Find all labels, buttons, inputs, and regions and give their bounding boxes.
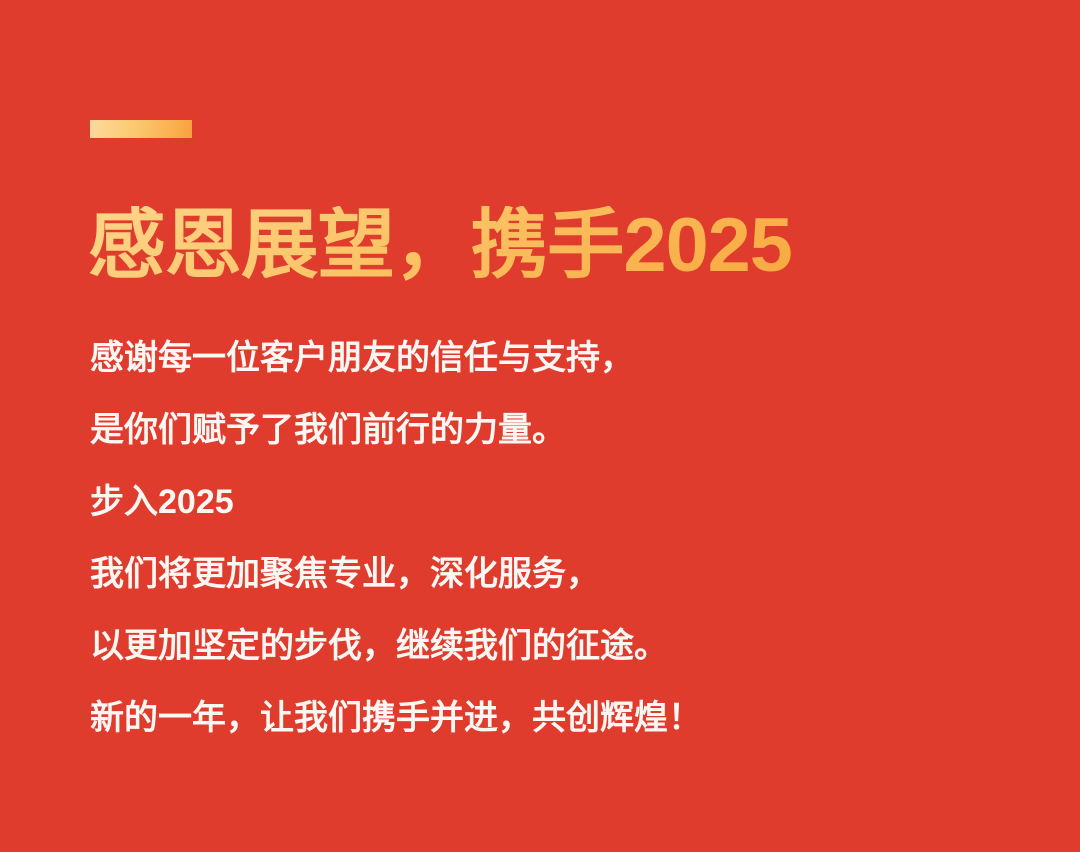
accent-bar [90, 120, 192, 138]
body-line: 我们将更加聚焦专业，深化服务， [90, 538, 990, 610]
body-line: 是你们赋予了我们前行的力量。 [90, 394, 990, 466]
poster-canvas: 感恩展望，携手2025 感谢每一位客户朋友的信任与支持， 是你们赋予了我们前行的… [0, 0, 1080, 852]
body-line: 感谢每一位客户朋友的信任与支持， [90, 322, 990, 394]
body-line: 以更加坚定的步伐，继续我们的征途。 [90, 610, 990, 682]
body-line: 步入2025 [90, 466, 990, 538]
page-title: 感恩展望，携手2025 [88, 206, 792, 287]
body-line: 新的一年，让我们携手并进，共创辉煌！ [90, 682, 990, 754]
body-copy: 感谢每一位客户朋友的信任与支持， 是你们赋予了我们前行的力量。 步入2025 我… [90, 322, 990, 754]
